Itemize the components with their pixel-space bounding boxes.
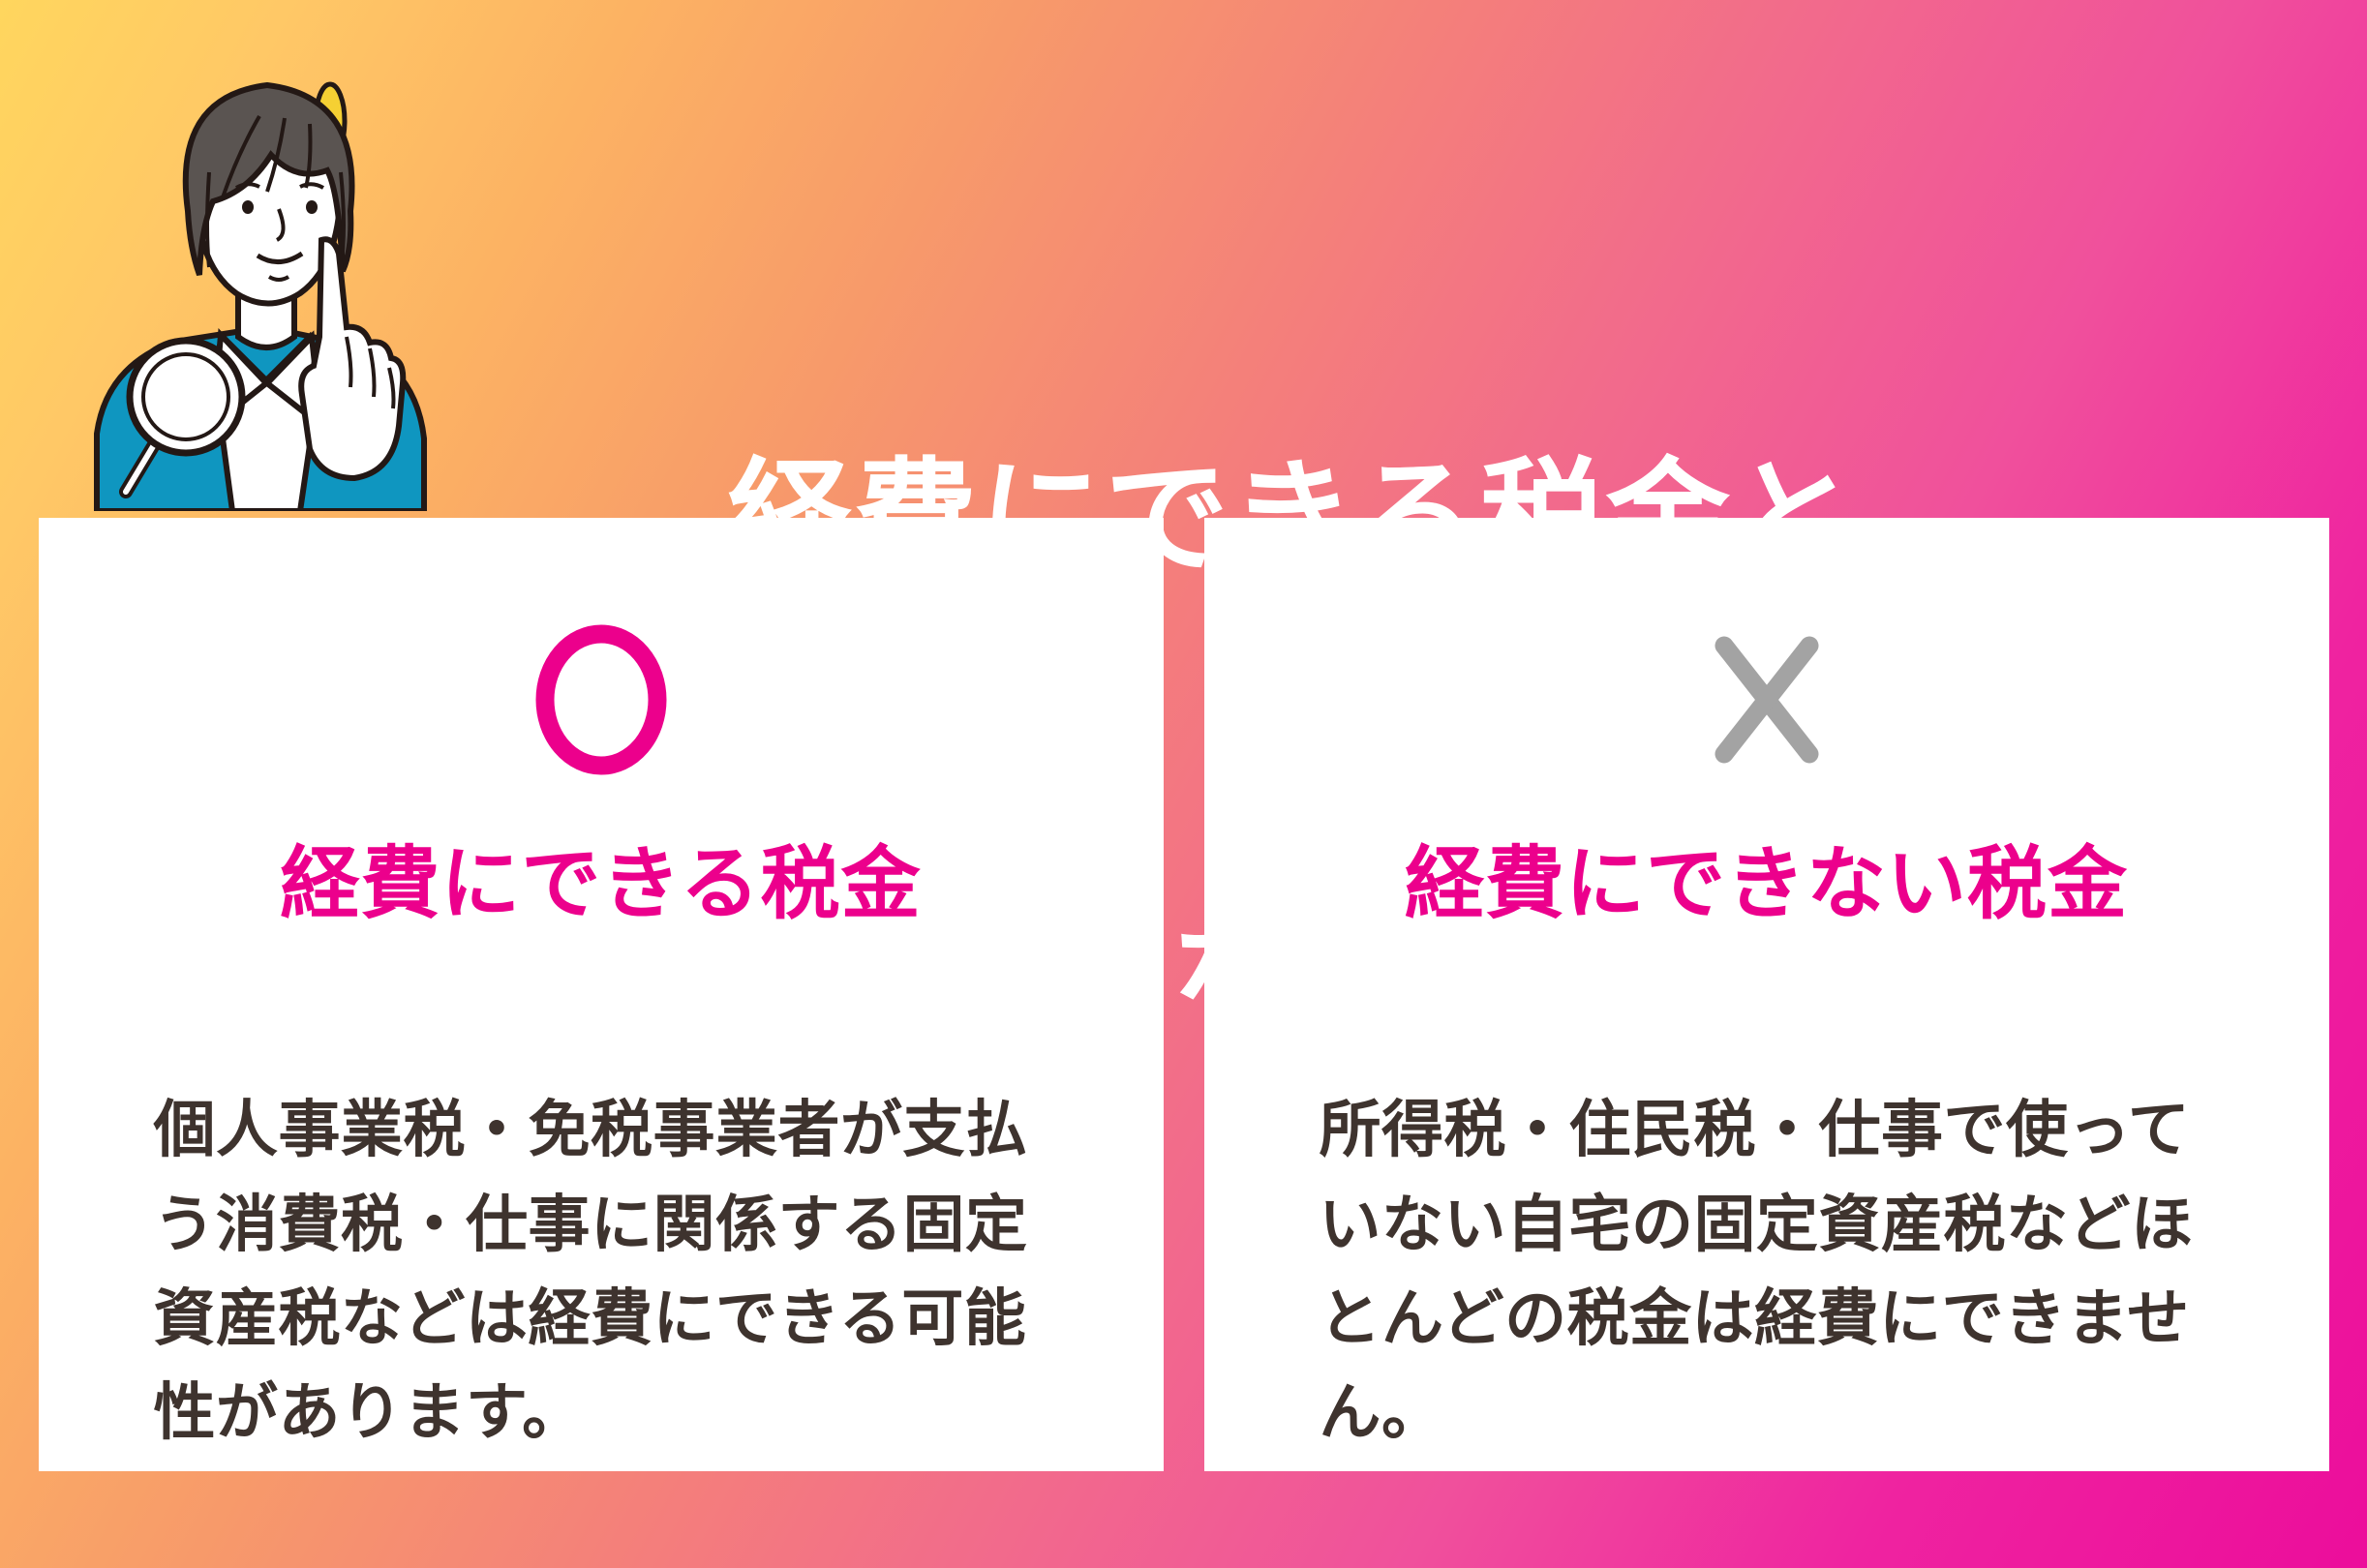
comparison-cards: 経費にできる税金 個人事業税・免税事業者が支払う消費税・仕事に関係する固定資産税… xyxy=(0,518,2367,1486)
poster-canvas: 経費にできる税金と できない税金 経費にできる税金 個人事業税・免税事業者が支払… xyxy=(0,0,2367,1568)
card-non-deductible-body: 所得税・住民税・仕事で使っていない自宅の固定資産税などほとんどの税金は経費にでき… xyxy=(1302,1083,2231,1460)
card-deductible-body: 個人事業税・免税事業者が支払う消費税・仕事に関係する固定資産税などは経費にできる… xyxy=(137,1083,1066,1460)
circle-ok-icon xyxy=(524,622,679,777)
cross-ng-icon xyxy=(1689,622,1844,777)
card-deductible-title: 経費にできる税金 xyxy=(280,841,921,928)
card-deductible: 経費にできる税金 個人事業税・免税事業者が支払う消費税・仕事に関係する固定資産税… xyxy=(39,518,1164,1471)
woman-with-magnifier-illustration xyxy=(68,46,474,511)
card-non-deductible: 経費にできない税金 所得税・住民税・仕事で使っていない自宅の固定資産税などほとん… xyxy=(1204,518,2329,1471)
card-non-deductible-title: 経費にできない税金 xyxy=(1405,841,2128,928)
